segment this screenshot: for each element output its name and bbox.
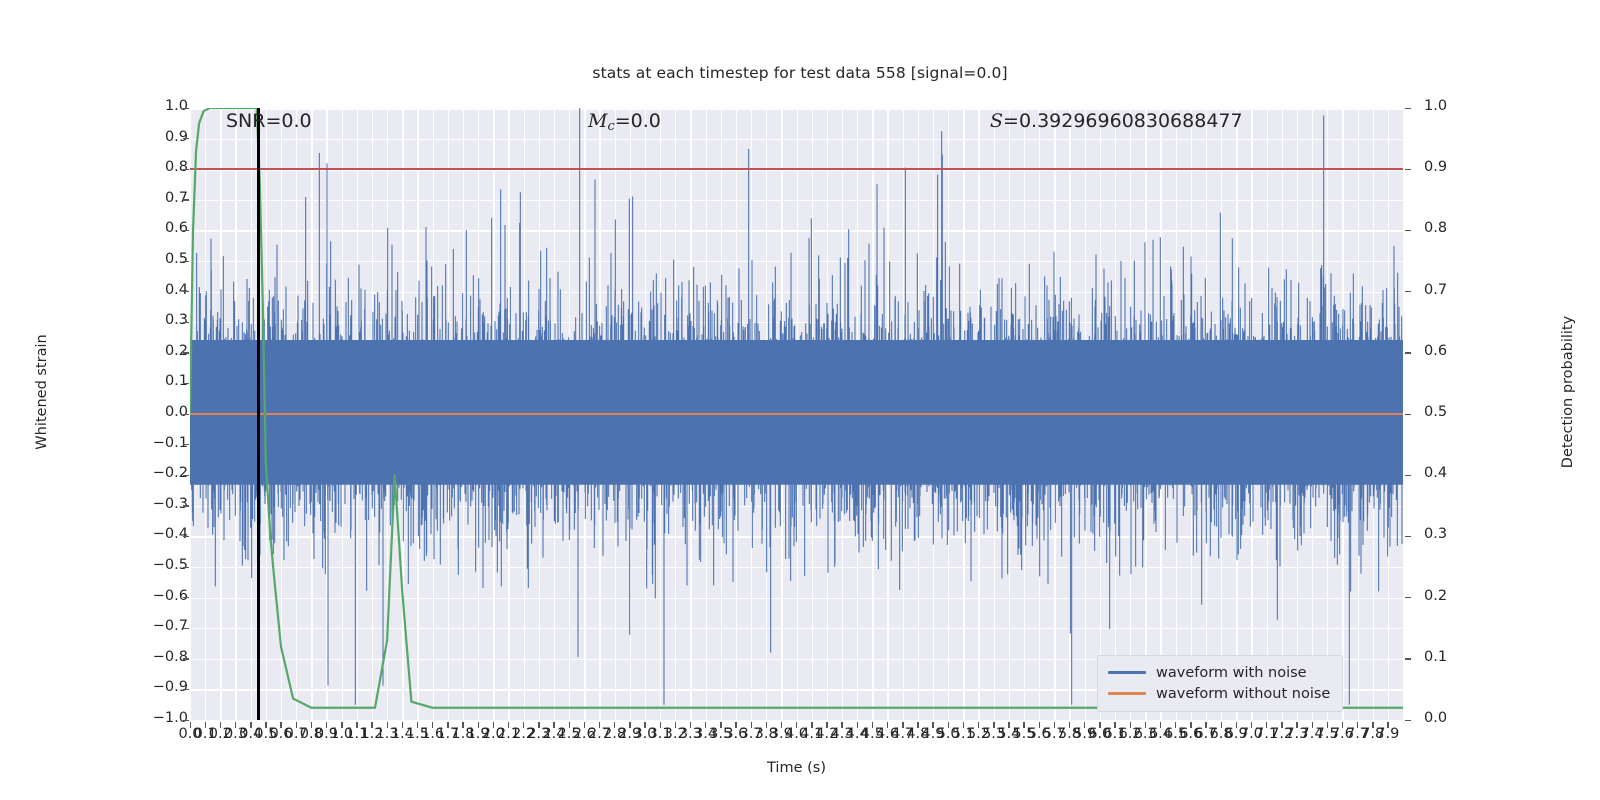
- y-axis-right-tick-label: 0.9: [1424, 159, 1447, 175]
- x-axis-tick-mark: [1099, 722, 1100, 728]
- x-axis-tick-mark: [1069, 722, 1070, 728]
- y-axis-left-tick-mark: [183, 108, 189, 109]
- y-axis-left-tick-label: −0.2: [153, 465, 188, 481]
- y-axis-left-tick-mark: [183, 383, 189, 384]
- x-axis-tick-mark: [553, 722, 554, 728]
- y-axis-right-tick-mark: [1405, 230, 1411, 231]
- x-axis-tick-mark: [1145, 722, 1146, 728]
- y-axis-left-tick-label: 0.8: [165, 159, 188, 175]
- x-axis-tick-mark: [220, 722, 221, 728]
- x-axis-tick-mark: [1054, 722, 1055, 728]
- x-axis-tick-label: 7.9: [1376, 726, 1399, 742]
- y-axis-left-tick-label: 0.7: [165, 190, 188, 206]
- mc-value: =0.0: [615, 110, 661, 132]
- y-axis-right-tick-label: 0.3: [1424, 526, 1447, 542]
- legend-color-swatch: [1108, 671, 1146, 674]
- x-axis-tick-mark: [1175, 722, 1176, 728]
- mc-subscript: c: [607, 119, 614, 134]
- x-axis-tick-mark: [1266, 722, 1267, 728]
- x-axis-tick-mark: [599, 722, 600, 728]
- x-axis-tick-mark: [1327, 722, 1328, 728]
- x-axis-tick-mark: [341, 722, 342, 728]
- x-axis-tick-mark: [402, 722, 403, 728]
- x-axis-tick-mark: [1039, 722, 1040, 728]
- plot-area: SNR=0.0 Mc=0.0 S=0.39296960830688477: [190, 108, 1403, 720]
- y-axis-right-tick-label: 0.7: [1424, 282, 1447, 298]
- y-axis-left-tick-mark: [183, 414, 189, 415]
- x-axis-tick-mark: [1190, 722, 1191, 728]
- x-axis-tick-mark: [508, 722, 509, 728]
- y-axis-left-tick-label: 0.6: [165, 220, 188, 236]
- y-axis-right-tick-mark: [1405, 352, 1411, 353]
- y-axis-left-tick-label: −0.3: [153, 496, 188, 512]
- y-axis-right-tick-mark: [1405, 475, 1411, 476]
- y-axis-left-tick-mark: [183, 597, 189, 598]
- figure-canvas: stats at each timestep for test data 558…: [0, 0, 1600, 800]
- y-axis-left-tick-mark: [183, 658, 189, 659]
- x-axis-tick-mark: [963, 722, 964, 728]
- x-axis-tick-mark: [720, 722, 721, 728]
- x-axis-tick-mark: [250, 722, 251, 728]
- y-axis-right-tick-label: 0.1: [1424, 649, 1447, 665]
- x-axis-tick-mark: [1357, 722, 1358, 728]
- x-axis-tick-mark: [1372, 722, 1373, 728]
- x-axis-tick-mark: [447, 722, 448, 728]
- y-axis-right-tick-label: 1.0: [1424, 98, 1447, 114]
- x-axis-tick-mark: [978, 722, 979, 728]
- y-axis-left-tick-mark: [183, 322, 189, 323]
- y-axis-right-tick-mark: [1405, 291, 1411, 292]
- x-axis-tick-mark: [235, 722, 236, 728]
- x-axis-tick-mark: [902, 722, 903, 728]
- y-axis-left-tick-label: −0.6: [153, 588, 188, 604]
- x-axis-tick-mark: [614, 722, 615, 728]
- x-axis-tick-mark: [857, 722, 858, 728]
- legend-item-label: waveform with noise: [1156, 665, 1307, 681]
- event-marker-layer: [190, 108, 1403, 720]
- x-axis-tick-mark: [1296, 722, 1297, 728]
- event-marker-line: [257, 108, 259, 720]
- x-axis-tick-mark: [417, 722, 418, 728]
- y-axis-left-tick-mark: [183, 291, 189, 292]
- x-axis-tick-mark: [538, 722, 539, 728]
- x-axis-tick-mark: [705, 722, 706, 728]
- y-axis-left-tick-mark: [183, 567, 189, 568]
- x-axis-tick-mark: [1084, 722, 1085, 728]
- x-axis-tick-mark: [993, 722, 994, 728]
- y-axis-left-tick-mark: [183, 169, 189, 170]
- y-axis-right-tick-label: 0.0: [1424, 710, 1447, 726]
- y-axis-left-tick-label: 0.1: [165, 373, 188, 389]
- x-axis-label: Time (s): [190, 760, 1403, 776]
- x-axis-tick-mark: [1221, 722, 1222, 728]
- x-axis-tick-mark: [644, 722, 645, 728]
- y-axis-left-tick-mark: [183, 628, 189, 629]
- y-axis-right-tick-label: 0.4: [1424, 465, 1447, 481]
- x-axis-tick-mark: [1387, 722, 1388, 728]
- x-axis-tick-mark: [1251, 722, 1252, 728]
- x-axis-tick-mark: [1205, 722, 1206, 728]
- x-axis-tick-mark: [751, 722, 752, 728]
- mc-symbol: M: [588, 110, 607, 132]
- y-axis-right-tick-label: 0.5: [1424, 404, 1447, 420]
- y-axis-right-tick-mark: [1405, 414, 1411, 415]
- x-axis-tick-mark: [1281, 722, 1282, 728]
- x-axis-tick-mark: [781, 722, 782, 728]
- y-axis-left-tick-label: 0.9: [165, 129, 188, 145]
- x-axis-tick-mark: [523, 722, 524, 728]
- legend: waveform with noisewaveform without nois…: [1097, 655, 1343, 712]
- x-axis-tick-mark: [205, 722, 206, 728]
- x-axis-tick-mark: [584, 722, 585, 728]
- x-axis-tick-mark: [1160, 722, 1161, 728]
- x-axis-tick-mark: [190, 722, 191, 728]
- x-axis-tick-mark: [887, 722, 888, 728]
- y-axis-right-label: Detection probability: [1560, 272, 1576, 512]
- y-axis-left-tick-label: 0.5: [165, 251, 188, 267]
- x-axis-tick-mark: [675, 722, 676, 728]
- y-axis-left-tick-mark: [183, 505, 189, 506]
- y-axis-right-tick-mark: [1405, 169, 1411, 170]
- y-axis-left-tick-label: 1.0: [165, 98, 188, 114]
- y-axis-left-tick-mark: [183, 720, 189, 721]
- y-axis-left-tick-mark: [183, 199, 189, 200]
- x-axis-tick-mark: [1312, 722, 1313, 728]
- annotation-score: S=0.39296960830688477: [990, 110, 1243, 132]
- y-axis-left-tick-mark: [183, 444, 189, 445]
- x-axis-tick-mark: [735, 722, 736, 728]
- y-axis-right-tick-mark: [1405, 597, 1411, 598]
- y-axis-left-tick-label: −1.0: [153, 710, 188, 726]
- legend-item[interactable]: waveform with noise: [1108, 662, 1330, 683]
- y-axis-left-tick-mark: [183, 536, 189, 537]
- x-axis-tick-mark: [1342, 722, 1343, 728]
- y-axis-left-tick-label: −0.4: [153, 526, 188, 542]
- x-axis-tick-mark: [811, 722, 812, 728]
- y-axis-left-tick-label: −0.9: [153, 679, 188, 695]
- s-value: =0.39296960830688477: [1003, 110, 1243, 132]
- y-axis-left-tick-label: −0.7: [153, 618, 188, 634]
- y-axis-left-tick-mark: [183, 689, 189, 690]
- y-axis-left-tick-label: 0.2: [165, 343, 188, 359]
- x-axis-tick-mark: [1023, 722, 1024, 728]
- y-axis-left-tick-mark: [183, 261, 189, 262]
- x-axis-tick-mark: [1114, 722, 1115, 728]
- x-axis-tick-mark: [1008, 722, 1009, 728]
- x-axis-tick-mark: [265, 722, 266, 728]
- x-axis-tick-mark: [948, 722, 949, 728]
- legend-item[interactable]: waveform without noise: [1108, 683, 1330, 704]
- y-axis-left-tick-label: 0.0: [165, 404, 188, 420]
- x-axis-tick-mark: [296, 722, 297, 728]
- legend-color-swatch: [1108, 692, 1146, 695]
- x-axis-tick-mark: [690, 722, 691, 728]
- y-axis-left-tick-mark: [183, 475, 189, 476]
- x-axis-tick-mark: [387, 722, 388, 728]
- annotation-snr: SNR=0.0: [226, 110, 312, 132]
- y-axis-right-tick-mark: [1405, 658, 1411, 659]
- x-axis-tick-mark: [311, 722, 312, 728]
- y-axis-left-tick-mark: [183, 138, 189, 139]
- x-axis-tick-mark: [478, 722, 479, 728]
- y-axis-left-tick-label: 0.3: [165, 312, 188, 328]
- y-axis-right-tick-mark: [1405, 536, 1411, 537]
- x-axis-tick-mark: [826, 722, 827, 728]
- x-axis-tick-mark: [493, 722, 494, 728]
- y-axis-left-tick-mark: [183, 352, 189, 353]
- y-axis-right-tick-mark: [1405, 720, 1411, 721]
- s-symbol: S: [990, 110, 1003, 132]
- x-axis-tick-mark: [1236, 722, 1237, 728]
- x-axis-tick-mark: [326, 722, 327, 728]
- y-axis-right-tick-mark: [1405, 108, 1411, 109]
- y-axis-left-tick-mark: [183, 230, 189, 231]
- page-title: stats at each timestep for test data 558…: [0, 64, 1600, 82]
- x-axis-tick-mark: [917, 722, 918, 728]
- annotation-chirp-mass: Mc=0.0: [588, 110, 661, 134]
- y-axis-left-tick-label: 0.4: [165, 282, 188, 298]
- x-axis-tick-mark: [660, 722, 661, 728]
- x-axis-tick-mark: [432, 722, 433, 728]
- y-axis-left-tick-label: −0.1: [153, 435, 188, 451]
- y-axis-left-tick-label: −0.5: [153, 557, 188, 573]
- x-axis-tick-mark: [569, 722, 570, 728]
- y-axis-left-label: Whitened strain: [34, 272, 50, 512]
- x-axis-tick-mark: [629, 722, 630, 728]
- y-axis-right-tick-label: 0.6: [1424, 343, 1447, 359]
- x-axis-tick-mark: [356, 722, 357, 728]
- y-axis-right-tick-label: 0.8: [1424, 220, 1447, 236]
- x-axis-tick-mark: [841, 722, 842, 728]
- x-axis-tick-mark: [371, 722, 372, 728]
- x-axis-tick-mark: [872, 722, 873, 728]
- x-axis-tick-mark: [932, 722, 933, 728]
- y-axis-left-tick-label: −0.8: [153, 649, 188, 665]
- x-axis-tick-mark: [280, 722, 281, 728]
- x-axis-tick-mark: [1130, 722, 1131, 728]
- legend-item-label: waveform without noise: [1156, 686, 1330, 702]
- y-axis-right-tick-label: 0.2: [1424, 588, 1447, 604]
- x-axis-tick-mark: [766, 722, 767, 728]
- x-axis-tick-mark: [462, 722, 463, 728]
- x-axis-tick-mark: [796, 722, 797, 728]
